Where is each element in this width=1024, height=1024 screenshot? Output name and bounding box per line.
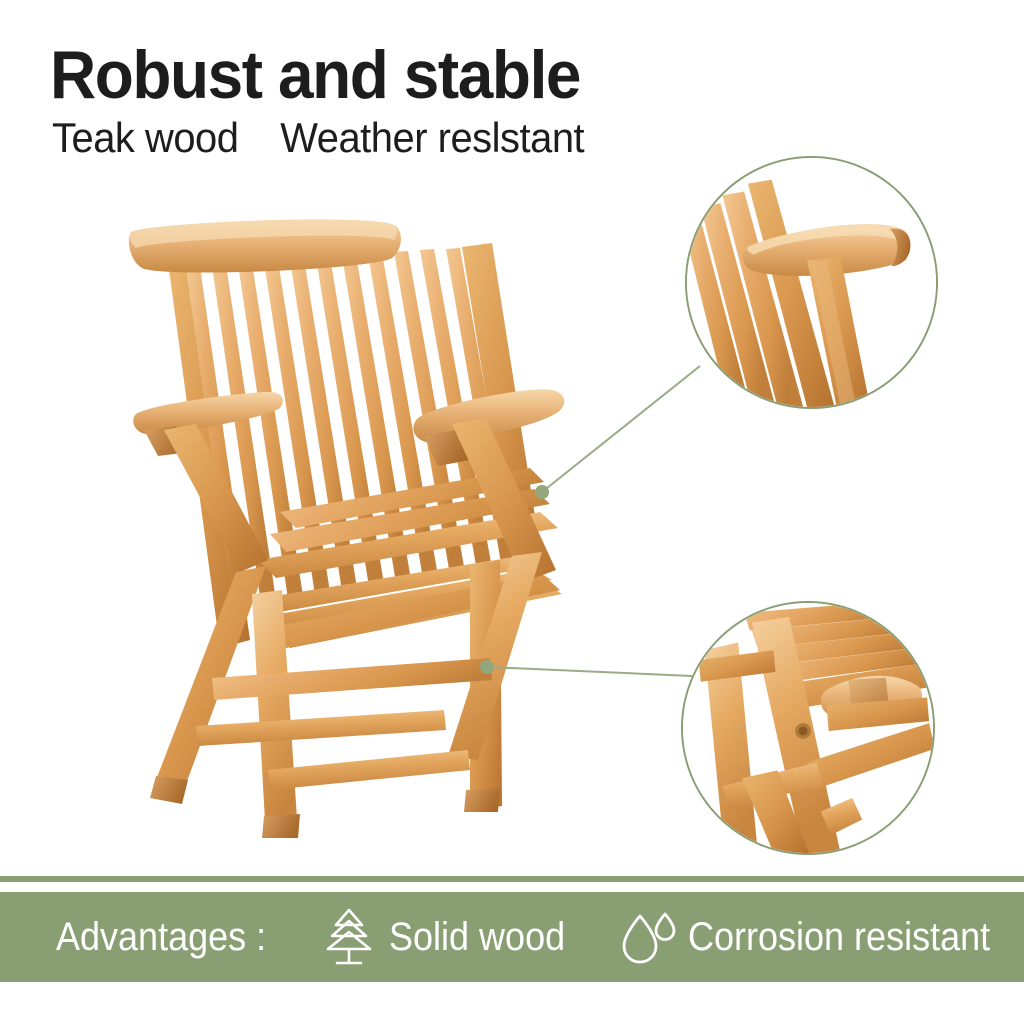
advantages-banner: Advantages : Solid wood — [0, 892, 1024, 982]
infographic-canvas: Robust and stable Teak woodWeather resls… — [0, 0, 1024, 1024]
advantage-item-corrosion-resistant: Corrosion resistant — [618, 906, 1024, 968]
advantage-text-solid-wood: Solid wood — [389, 917, 565, 957]
product-image-teak-folding-chair — [0, 0, 1024, 1024]
advantage-item-solid-wood: Solid wood — [323, 906, 585, 968]
armrest-joint-zoom-image — [687, 158, 936, 407]
advantage-text-corrosion-resistant: Corrosion resistant — [688, 917, 990, 957]
detail-circle-armrest-joint — [685, 156, 938, 409]
detail-circle-folding-leg-joint — [681, 601, 935, 855]
advantages-label: Advantages : — [56, 917, 266, 957]
folding-leg-joint-zoom-image — [683, 603, 933, 853]
water-drop-icon — [618, 906, 678, 968]
banner-top-rule — [0, 876, 1024, 882]
pine-tree-icon — [323, 906, 375, 968]
